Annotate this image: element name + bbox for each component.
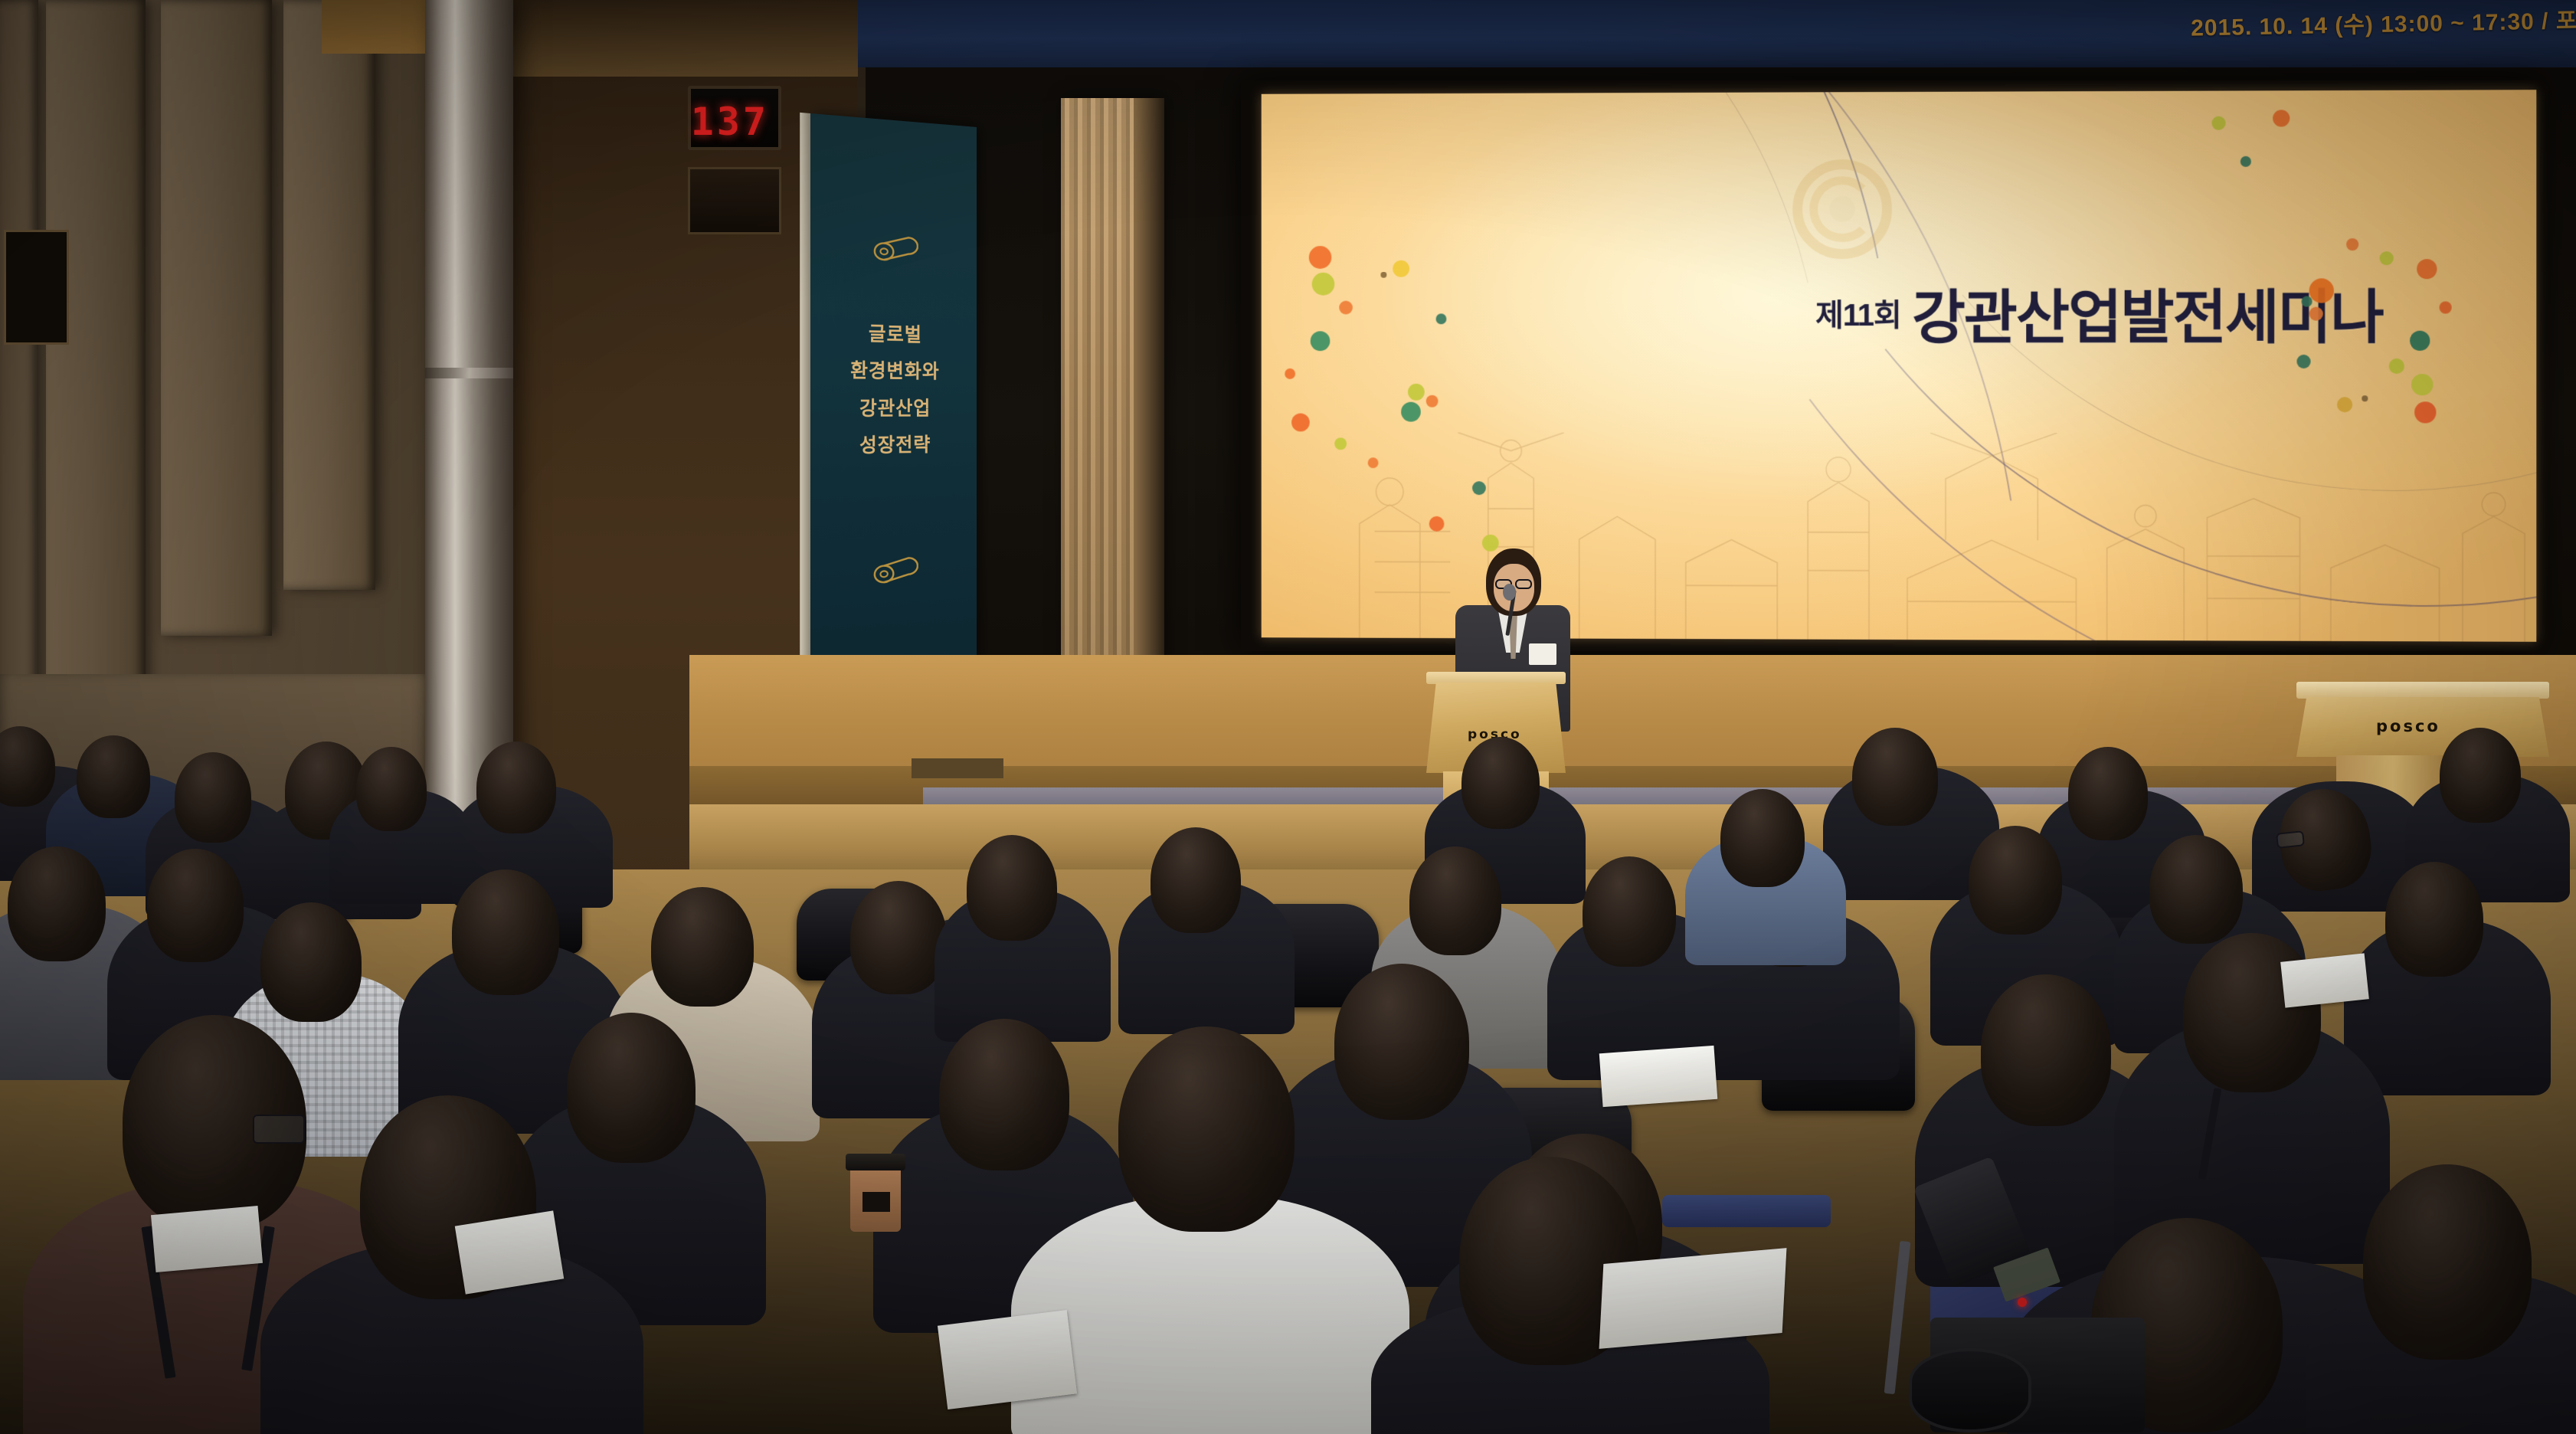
audience-head — [1720, 789, 1805, 887]
audience-head — [2068, 747, 2148, 840]
banner-date-venue-text: 2015. 10. 14 (수) 13:00 ~ 17:30 / 포스코센터 서… — [2191, 0, 2576, 43]
screen-dot — [2380, 251, 2394, 265]
screen-dot — [2411, 374, 2433, 395]
screen-dot — [1482, 535, 1499, 552]
camera-lens — [1909, 1348, 2031, 1432]
podium-top-ledge — [1426, 672, 1566, 684]
coffee-cup-label — [862, 1192, 890, 1212]
audience-head — [1118, 1026, 1295, 1232]
program-booklet — [938, 1310, 1077, 1409]
screen-dot — [1368, 457, 1379, 468]
screen-dot — [1380, 272, 1386, 278]
screen-dot — [1339, 301, 1353, 315]
audience-head — [2363, 1164, 2532, 1360]
camera-af-led — [2018, 1298, 2027, 1307]
wall-fin — [283, 0, 375, 590]
program-booklet — [1599, 1248, 1787, 1349]
speaker-name-badge — [1529, 643, 1556, 665]
banner-line: 환경변화와 — [810, 352, 977, 390]
audience-head — [1981, 974, 2111, 1126]
seminar-title: 제11회강관산업발전세미나 — [1815, 270, 2509, 355]
audience-head — [2149, 835, 2243, 944]
clock-digits: 137 — [691, 100, 769, 144]
screen-dot — [1401, 402, 1421, 422]
audience-head — [77, 735, 150, 818]
chair-seat — [1662, 1195, 1831, 1227]
audience-head — [850, 881, 947, 994]
screen-dot — [2211, 116, 2225, 130]
screen-dot — [1311, 331, 1331, 351]
screen-dot — [2309, 278, 2334, 303]
countdown-clock: 137 — [688, 86, 781, 150]
screen-dot — [2362, 395, 2368, 401]
screen-dot — [1291, 414, 1310, 432]
audience-head — [175, 752, 251, 843]
audience-head — [967, 835, 1057, 941]
screen-dot — [1436, 313, 1447, 324]
audience-head — [939, 1019, 1069, 1170]
audience-head — [452, 869, 559, 995]
program-booklet — [2280, 953, 2369, 1007]
audience-glasses — [253, 1115, 305, 1144]
coffee-cup-lid — [846, 1154, 905, 1170]
screen-dot — [2417, 259, 2437, 279]
speaker-glasses — [1515, 579, 1532, 589]
screen-dot — [2273, 110, 2290, 126]
audience-head — [8, 846, 106, 961]
screen-dot — [2346, 238, 2358, 250]
column-joint — [425, 368, 513, 378]
screen-dot — [1472, 481, 1486, 495]
banner-line: 글로벌 — [810, 314, 977, 355]
steel-pipe-icon — [872, 231, 918, 264]
logo-core — [1829, 196, 1855, 222]
screen-dot — [1408, 384, 1425, 401]
wall-fin — [46, 0, 146, 689]
screen-dot — [2240, 156, 2251, 167]
swirl-watermark-logo — [1792, 159, 1892, 259]
ceiling-soffit — [506, 0, 858, 77]
screen-dot — [1312, 273, 1335, 296]
structural-column — [425, 0, 513, 812]
audience-head — [651, 887, 754, 1007]
audience-head — [1409, 846, 1501, 955]
audience-glasses — [2276, 830, 2305, 849]
audience-head — [1151, 827, 1241, 933]
audience-head — [2440, 728, 2521, 823]
projection-screen: 제11회강관산업발전세미나 — [1262, 90, 2537, 642]
screen-dot — [2309, 307, 2323, 321]
stage-vent — [912, 758, 1003, 778]
audience-head — [1852, 728, 1938, 826]
vertical-theme-banner: 글로벌 환경변화와 강관산업 성장전략 — [810, 113, 977, 700]
event-top-banner: 2015. 10. 14 (수) 13:00 ~ 17:30 / 포스코센터 서… — [858, 0, 2576, 70]
audience-head — [567, 1013, 696, 1163]
screen-dot — [2414, 401, 2436, 423]
audience-head — [2183, 933, 2321, 1092]
program-booklet — [151, 1206, 263, 1272]
screen-dot — [2301, 296, 2312, 307]
banner-line: 강관산업 — [810, 390, 977, 427]
audience-head — [476, 742, 556, 833]
audience-head — [1461, 737, 1540, 829]
screen-dot — [2440, 301, 2452, 313]
screen-dot — [2337, 397, 2352, 412]
audience-head — [147, 849, 244, 962]
wall-speaker-grille — [4, 230, 69, 345]
audience-head — [1969, 826, 2062, 935]
audience-head — [2385, 862, 2483, 977]
stage-curtain-shadow — [1134, 98, 1164, 703]
wall-fin — [0, 0, 38, 758]
screen-dot — [1309, 246, 1332, 269]
program-booklet — [1599, 1046, 1718, 1107]
screen-dot — [1334, 437, 1347, 450]
auditorium-photo: 137 2015. 10. 14 (수) 13:00 ~ 17:30 / 포스코… — [0, 0, 2576, 1434]
wall-fin — [161, 0, 272, 636]
left-acoustic-wall — [0, 0, 429, 827]
screen-dot — [1393, 260, 1409, 277]
screen-dot — [1429, 516, 1445, 532]
screen-dot — [2410, 331, 2430, 351]
microphone-head — [1503, 584, 1516, 601]
industrial-lineart — [1262, 432, 2537, 641]
steel-pipe-icon — [872, 553, 918, 585]
podium-top-ledge — [2296, 682, 2549, 699]
audience-head — [1334, 964, 1469, 1120]
seminar-title-prefix: 제11회 — [1815, 299, 1901, 332]
audience-head — [356, 747, 427, 831]
screen-dot — [2296, 355, 2310, 368]
banner-left-edge — [800, 113, 810, 701]
banner-line: 성장전략 — [810, 427, 977, 466]
clock-panel-housing — [688, 167, 781, 234]
screen-dot — [1285, 368, 1295, 379]
audience-head — [1583, 856, 1676, 967]
banner-theme-lines: 글로벌 환경변화와 강관산업 성장전략 — [810, 314, 977, 466]
audience-head — [260, 902, 362, 1022]
screen-dot — [1426, 395, 1439, 408]
screen-dot — [2389, 358, 2404, 374]
podium-brand-right: posco — [2376, 717, 2440, 735]
